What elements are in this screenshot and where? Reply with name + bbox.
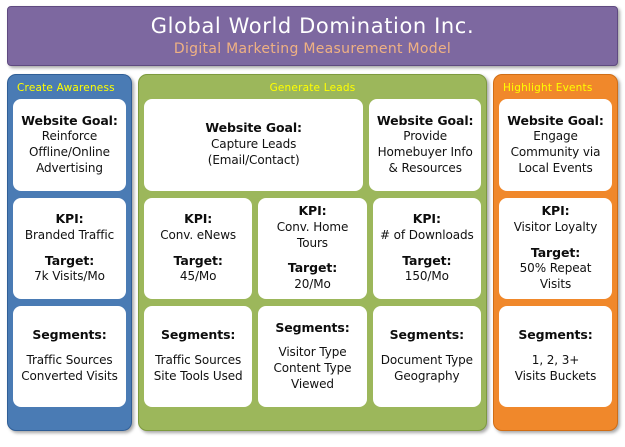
segment-line: Geography [394,369,459,385]
kpi-row-leads: KPI: Conv. eNews Target: 45/Mo KPI: Conv… [144,198,481,299]
goal-line: & Resources [389,161,462,177]
target-value: 7k Visits/Mo [34,269,105,285]
segments-heading: Segments: [390,327,464,344]
segment-line: Traffic Sources [26,353,112,369]
segment-line: Converted Visits [21,369,118,385]
goal-heading: Website Goal: [21,113,118,130]
goal-line: Community via [511,145,601,161]
goal-card-awareness[interactable]: Website Goal: Reinforce Offline/Online A… [13,99,126,191]
column-label-create-awareness: Create Awareness [13,79,126,99]
target-heading: Target: [288,260,337,277]
kpi-row-events: KPI: Visitor Loyalty Target: 50% Repeat … [499,198,612,299]
goal-line: Reinforce [42,129,97,145]
column-label-generate-leads: Generate Leads [144,79,481,99]
goal-card-homebuyer-info[interactable]: Website Goal: Provide Homebuyer Info & R… [369,99,481,191]
target-heading: Target: [174,253,223,270]
segments-heading: Segments: [518,327,592,344]
goal-row-leads: Website Goal: Capture Leads (Email/Conta… [144,99,481,191]
kpi-card-downloads[interactable]: KPI: # of Downloads Target: 150/Mo [373,198,481,299]
segments-row-leads: Segments: Traffic Sources Site Tools Use… [144,306,481,407]
segments-row-events: Segments: 1, 2, 3+ Visits Buckets [499,306,612,407]
segments-card-traffic-sources[interactable]: Segments: Traffic Sources Site Tools Use… [144,306,252,407]
segment-line: Visitor Type [278,345,346,361]
goal-row-events: Website Goal: Engage Community via Local… [499,99,612,191]
segments-card-visitor-type[interactable]: Segments: Visitor Type Content Type View… [258,306,366,407]
segment-line: Site Tools Used [154,369,243,385]
column-generate-leads[interactable]: Generate Leads Website Goal: Capture Lea… [138,74,487,431]
goal-line: Local Events [518,161,592,177]
segment-line: Content Type [274,361,352,377]
segment-line: Document Type [381,353,473,369]
target-heading: Target: [402,253,451,270]
segments-heading: Segments: [275,320,349,337]
kpi-card-events[interactable]: KPI: Visitor Loyalty Target: 50% Repeat … [499,198,612,299]
segments-row-awareness: Segments: Traffic Sources Converted Visi… [13,306,126,407]
kpi-card-conv-enews[interactable]: KPI: Conv. eNews Target: 45/Mo [144,198,252,299]
target-value: 50% Repeat Visits [503,261,608,293]
diagram-canvas: Global World Domination Inc. Digital Mar… [0,0,625,447]
kpi-value: Conv. Home Tours [262,220,362,252]
goal-card-events[interactable]: Website Goal: Engage Community via Local… [499,99,612,191]
kpi-heading: KPI: [184,211,212,228]
kpi-heading: KPI: [298,203,326,220]
kpi-heading: KPI: [541,203,569,220]
target-value: 150/Mo [405,269,449,285]
kpi-value: Conv. eNews [160,228,236,244]
goal-line: Advertising [36,161,103,177]
segment-line: Visits Buckets [515,369,597,385]
segments-card-awareness[interactable]: Segments: Traffic Sources Converted Visi… [13,306,126,407]
kpi-heading: KPI: [55,211,83,228]
column-label-highlight-events: Highlight Events [499,79,612,99]
kpi-value: # of Downloads [380,228,474,244]
goal-line: (Email/Contact) [208,153,300,169]
page-subtitle: Digital Marketing Measurement Model [174,42,451,57]
goal-line: Offline/Online [29,145,110,161]
page-title: Global World Domination Inc. [151,15,474,37]
kpi-row-awareness: KPI: Branded Traffic Target: 7k Visits/M… [13,198,126,299]
segments-card-events[interactable]: Segments: 1, 2, 3+ Visits Buckets [499,306,612,407]
segments-heading: Segments: [161,327,235,344]
kpi-card-awareness[interactable]: KPI: Branded Traffic Target: 7k Visits/M… [13,198,126,299]
goal-line: Engage [533,129,578,145]
kpi-value: Branded Traffic [25,228,114,244]
kpi-value: Visitor Loyalty [514,220,598,236]
segment-line: 1, 2, 3+ [532,353,579,369]
segments-card-document-type[interactable]: Segments: Document Type Geography [373,306,481,407]
target-value: 45/Mo [180,269,217,285]
goal-line: Homebuyer Info [378,145,473,161]
kpi-heading: KPI: [413,211,441,228]
goal-line: Capture Leads [211,137,296,153]
diagram-header: Global World Domination Inc. Digital Mar… [7,6,618,66]
columns-container: Create Awareness Website Goal: Reinforce… [7,74,618,431]
segment-line: Viewed [291,377,334,393]
segment-line: Traffic Sources [155,353,241,369]
target-heading: Target: [531,245,580,262]
goal-heading: Website Goal: [205,120,302,137]
segments-heading: Segments: [32,327,106,344]
target-value: 20/Mo [294,277,331,293]
goal-row-awareness: Website Goal: Reinforce Offline/Online A… [13,99,126,191]
goal-line: Provide [403,129,447,145]
kpi-card-conv-home-tours[interactable]: KPI: Conv. Home Tours Target: 20/Mo [258,198,366,299]
column-create-awareness[interactable]: Create Awareness Website Goal: Reinforce… [7,74,132,431]
target-heading: Target: [45,253,94,270]
column-highlight-events[interactable]: Highlight Events Website Goal: Engage Co… [493,74,618,431]
goal-heading: Website Goal: [377,113,474,130]
goal-card-capture-leads[interactable]: Website Goal: Capture Leads (Email/Conta… [144,99,363,191]
goal-heading: Website Goal: [507,113,604,130]
